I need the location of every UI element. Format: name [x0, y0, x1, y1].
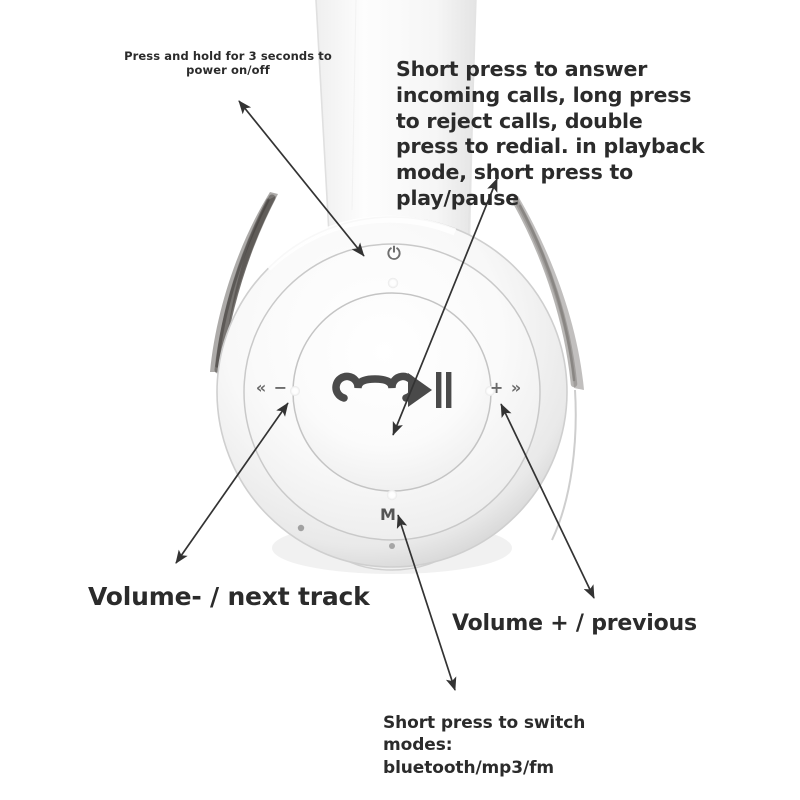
- mode-led: [387, 490, 397, 500]
- power-led: [388, 278, 398, 288]
- pause-bar-right[interactable]: [446, 372, 451, 408]
- volume-down-button[interactable]: « −: [246, 378, 298, 397]
- mode-m-letter[interactable]: M: [374, 505, 402, 524]
- callout-power-label: Press and hold for 3 seconds to power on…: [108, 50, 348, 77]
- callout-volume-down-label: Volume- / next track: [88, 582, 388, 612]
- callout-call-label: Short press to answer incoming calls, lo…: [396, 57, 706, 212]
- mic-hole-bottom: [389, 543, 395, 549]
- volume-up-button[interactable]: + »: [480, 378, 532, 397]
- mic-hole-left: [298, 525, 304, 531]
- power-icon[interactable]: ⏻: [380, 246, 408, 263]
- callout-mode-label: Short press to switch modes: bluetooth/m…: [383, 712, 623, 779]
- diagram-canvas: ⏻ M « − + » Press and hold for 3 seconds…: [0, 0, 800, 800]
- pause-bar-left[interactable]: [436, 372, 441, 408]
- callout-volume-up-label: Volume + / previous: [452, 611, 742, 637]
